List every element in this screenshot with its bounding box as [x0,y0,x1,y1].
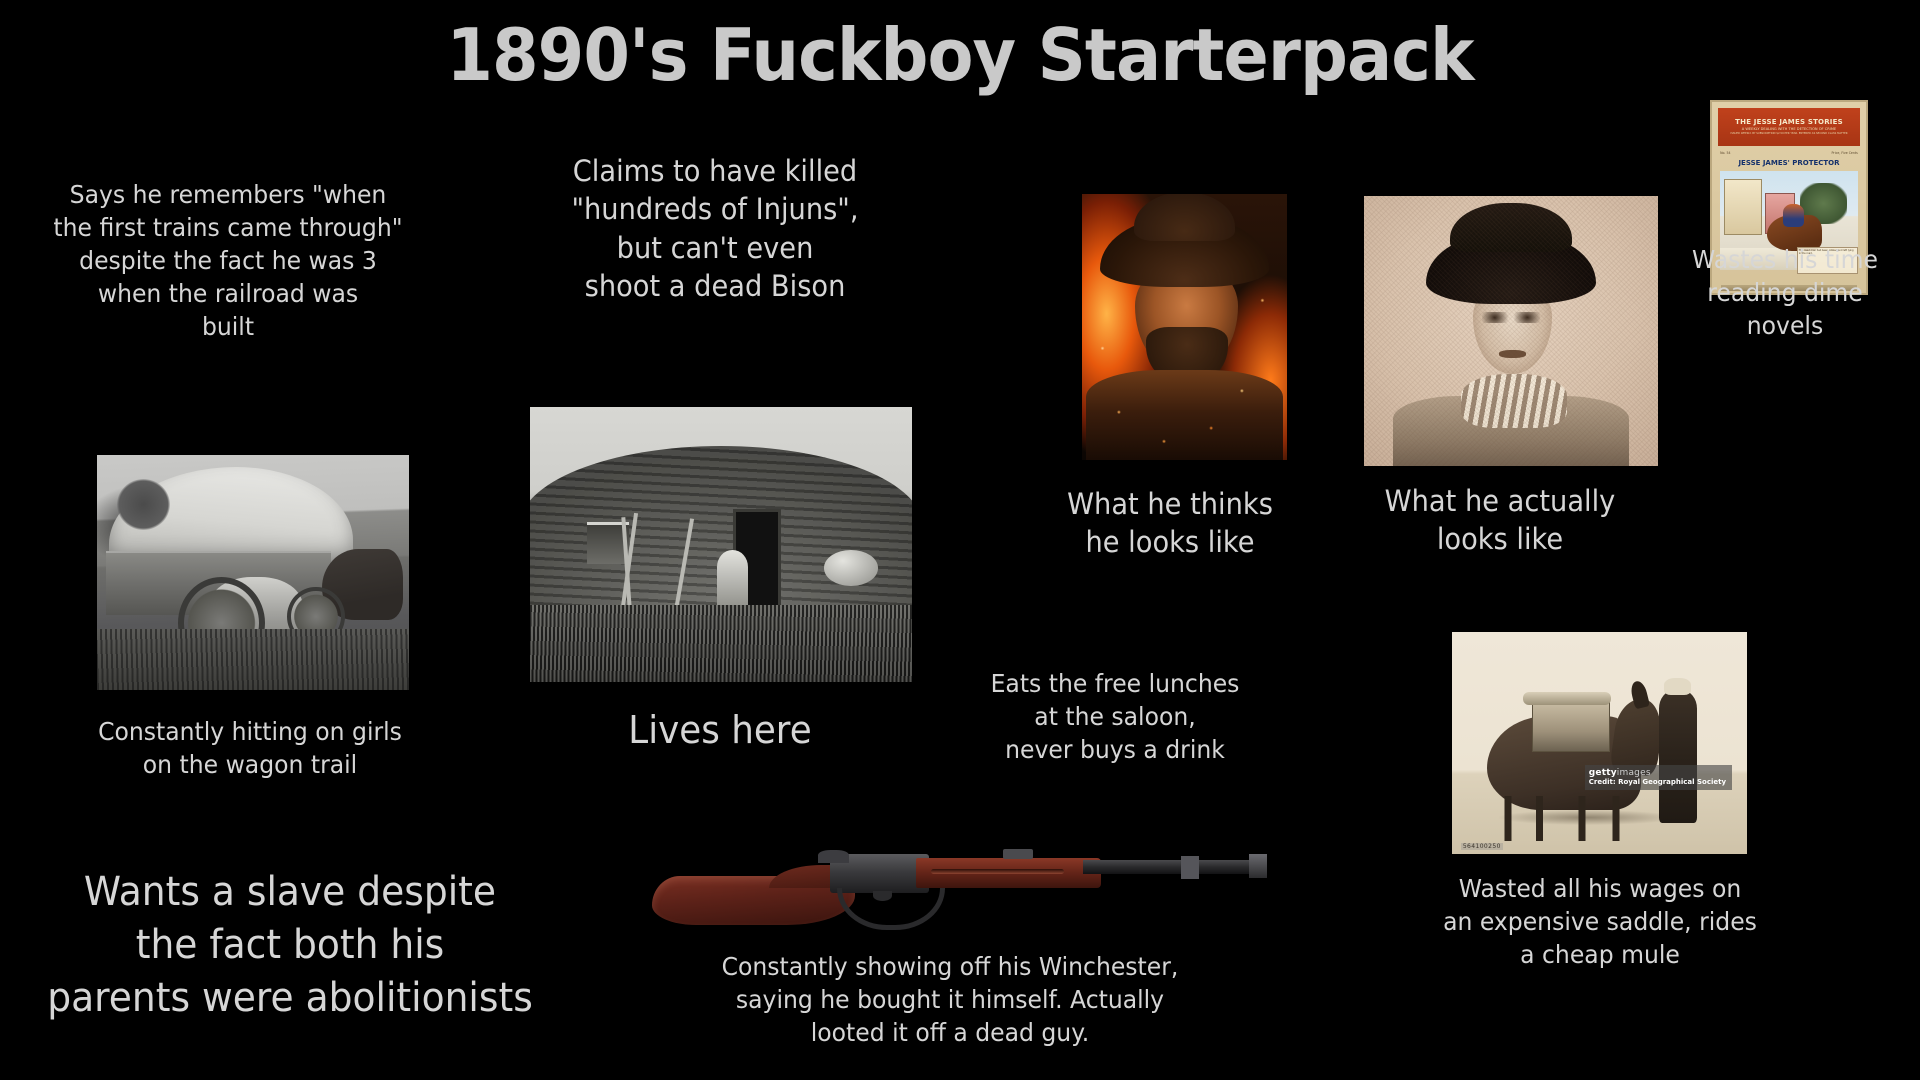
dime-novel-issue-number: No. 54 [1720,151,1730,155]
dime-novel-title: THE JESSE JAMES STORIES [1735,118,1843,126]
caption-abolitionists: Wants a slave despite the fact both his … [46,866,535,1024]
getty-credit: Credit: Royal Geographical Society [1589,778,1733,786]
dime-novel-issue-line: No. 54 Price, Five Cents [1718,148,1860,158]
covered-wagon-photo [97,455,409,690]
mule-and-soldier-photo-content: gettyimages Credit: Royal Geographical S… [1452,632,1747,854]
getty-watermark: gettyimages Credit: Royal Geographical S… [1585,765,1733,789]
caption-trains: Says he remembers "when the first trains… [21,178,435,343]
fiery-cowboy-photo [1082,194,1287,460]
dime-novel-price: Price, Five Cents [1832,151,1858,155]
getty-brand-bold: getty [1589,768,1617,778]
sod-house-photo [530,407,912,682]
dime-novel-meta: ISSUED WEEKLY. BY SUBSCRIPTION $2.50 PER… [1730,132,1847,135]
dime-novel-subtitle: A WEEKLY DEALING WITH THE DETECTION OF C… [1742,127,1836,131]
caption-dime-novels: Wastes his time reading dime novels [1668,243,1903,342]
caption-what-he-thinks: What he thinks he looks like [1029,485,1311,562]
billy-the-kid-tintype [1364,196,1658,466]
getty-brand-light: images [1617,768,1651,778]
page-title: 1890's Fuckboy Starterpack [67,18,1853,94]
getty-brand: gettyimages [1589,768,1733,778]
caption-winchester: Constantly showing off his Winchester, s… [659,950,1242,1049]
winchester-rifle-image [652,828,1267,936]
caption-cheap-mule: Wasted all his wages on an expensive sad… [1403,872,1798,971]
caption-what-he-actually: What he actually looks like [1350,482,1651,559]
sod-house-photo-content [530,407,912,682]
mule-and-soldier-photo: gettyimages Credit: Royal Geographical S… [1452,632,1747,854]
dime-novel-headline: JESSE JAMES' PROTECTOR [1720,159,1859,167]
caption-lives-here: Lives here [513,705,927,755]
caption-wagon-trail: Constantly hitting on girls on the wagon… [43,715,457,781]
billy-the-kid-tintype-content [1364,196,1658,466]
dime-novel-banner: THE JESSE JAMES STORIES A WEEKLY DEALING… [1718,108,1860,146]
meme-canvas: 1890's Fuckboy Starterpack Says he remem… [0,0,1920,1080]
getty-asset-id: 564100250 [1461,843,1503,850]
caption-injuns: Claims to have killed "hundreds of Injun… [518,152,913,305]
fiery-cowboy-photo-content [1082,194,1287,460]
caption-free-lunches: Eats the free lunches at the saloon, nev… [960,667,1270,766]
covered-wagon-photo-content [97,455,409,690]
